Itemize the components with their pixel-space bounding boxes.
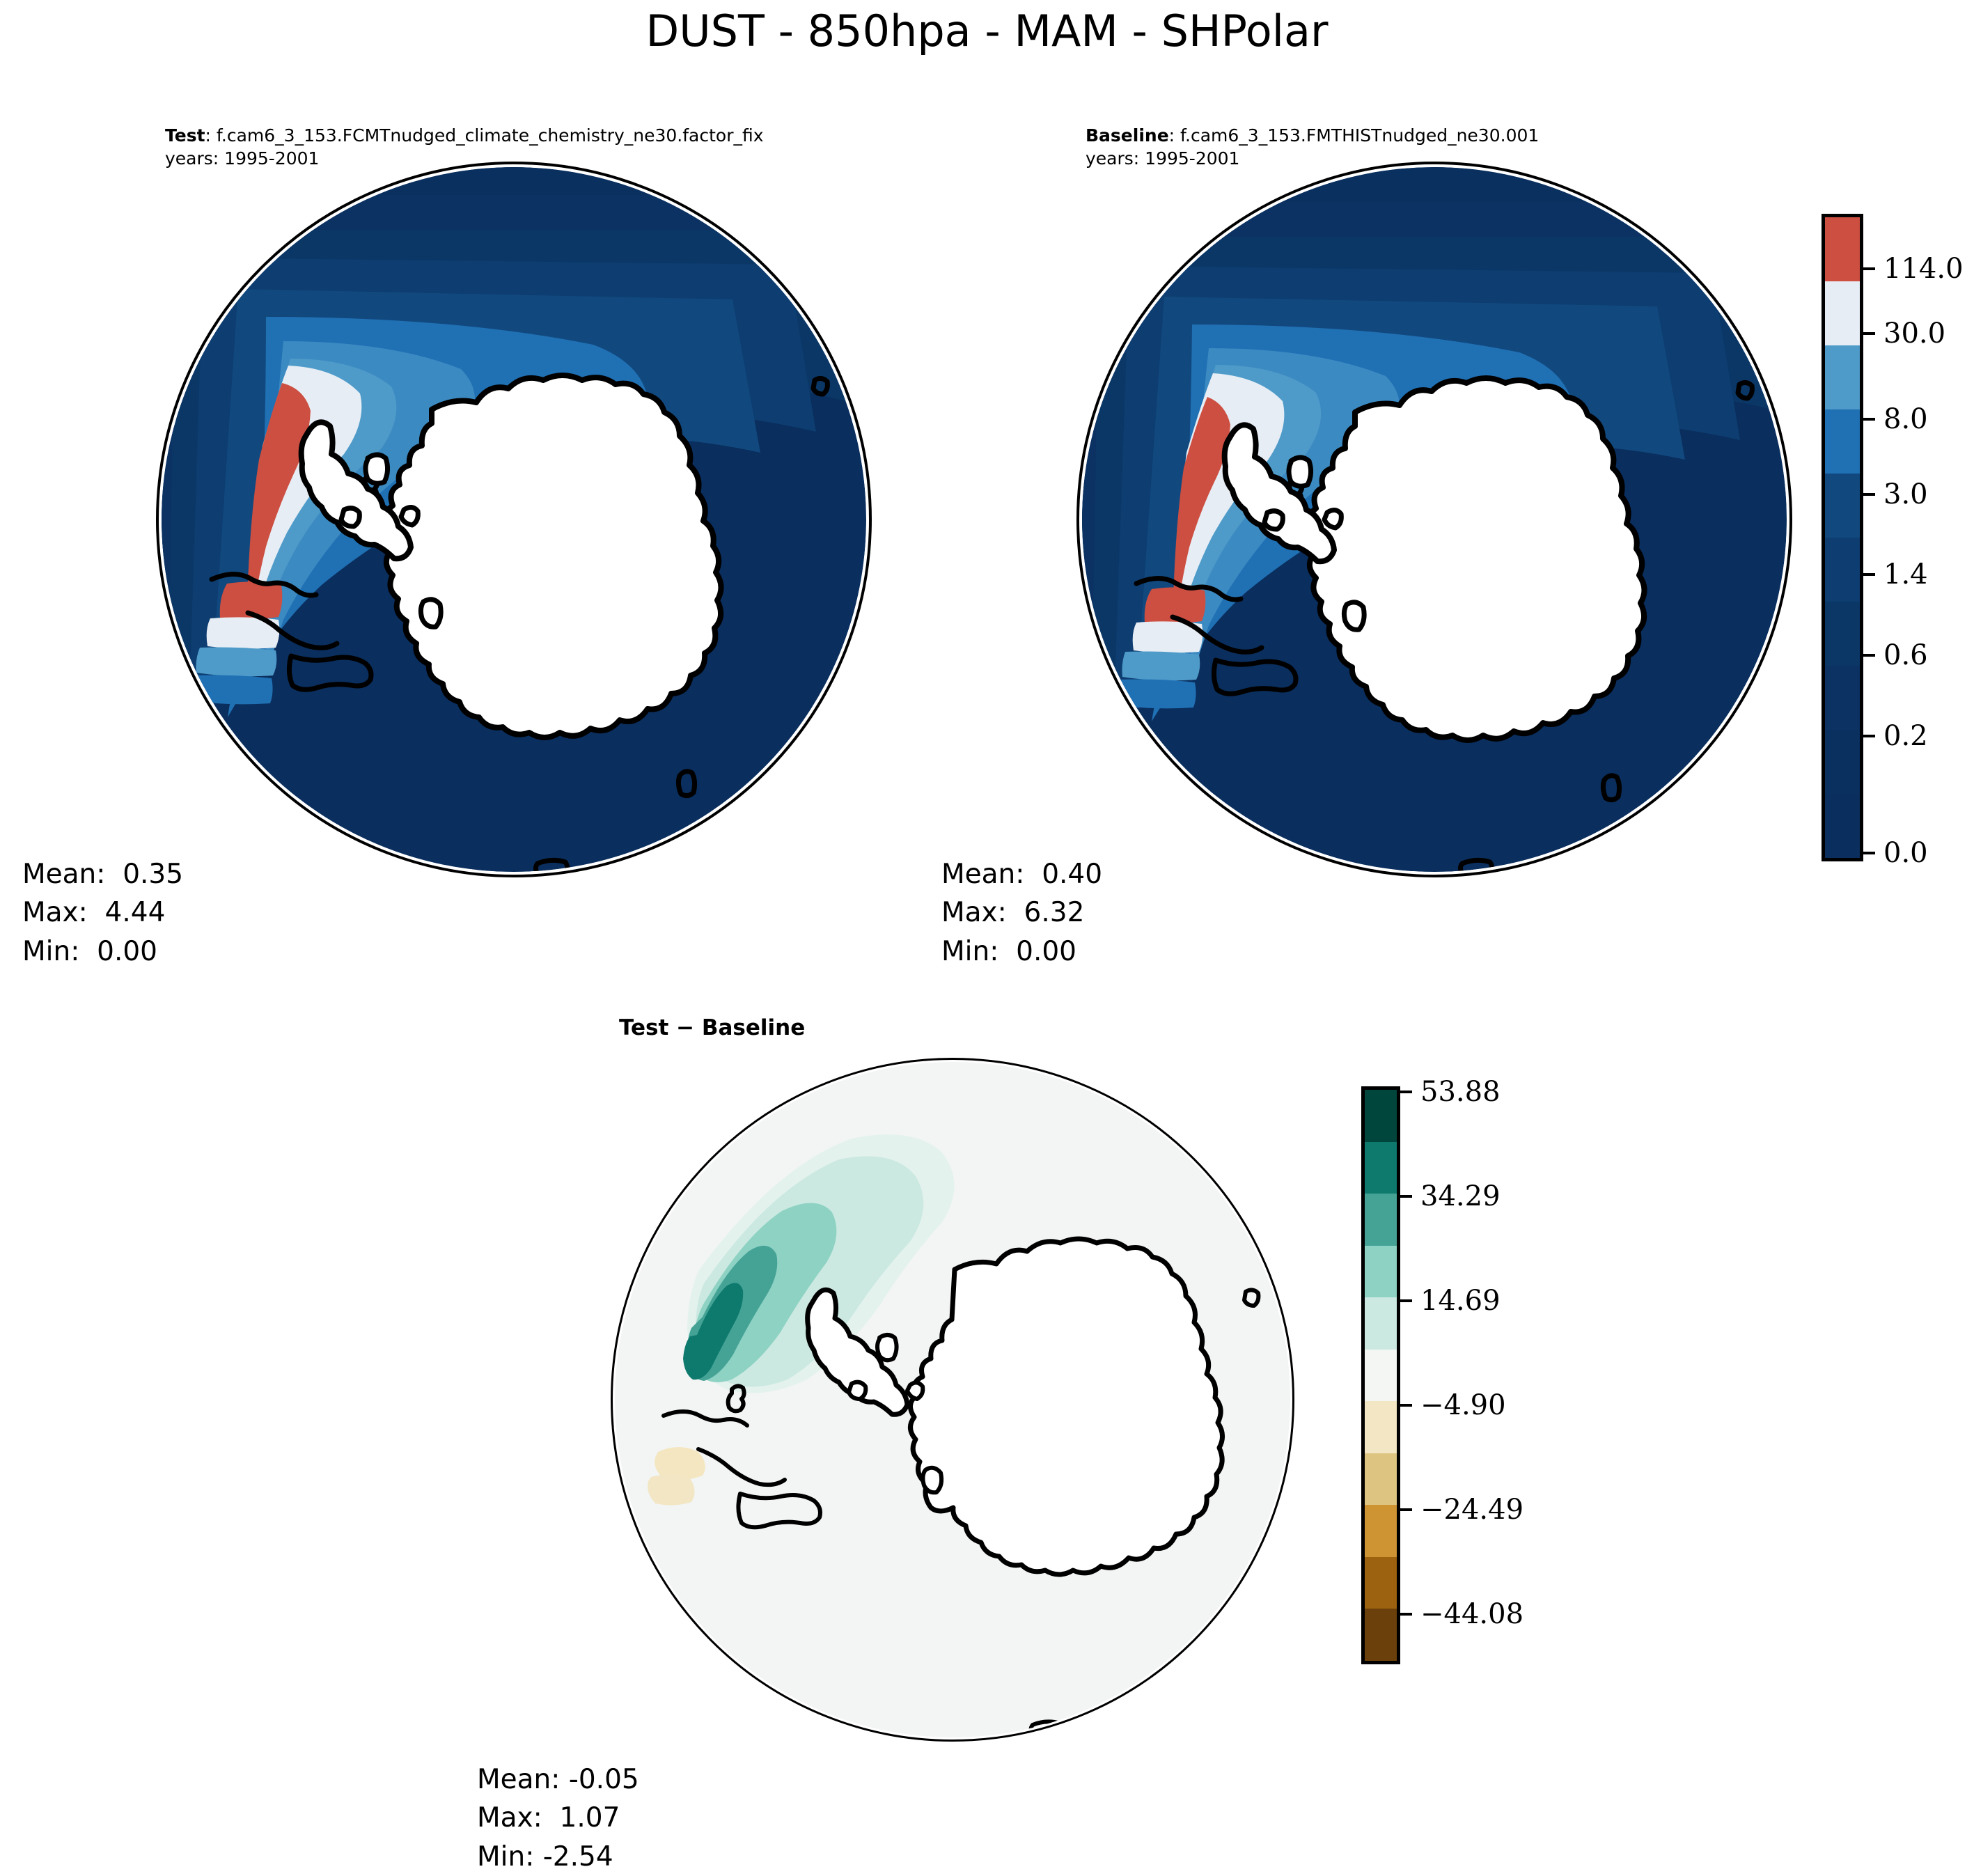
difference-colorbar-tick-2: 14.69 (1400, 1285, 1501, 1317)
tick-mark (1863, 852, 1875, 854)
test-map-panel (156, 162, 872, 879)
difference-map-disc (615, 1062, 1290, 1737)
tick-mark (1863, 735, 1875, 737)
main-colorbar-tick-3: 3.0 (1863, 478, 1928, 510)
difference-map-panel (611, 1058, 1294, 1743)
difference-colorbar-band-8 (1365, 1505, 1397, 1557)
test-separator: : (205, 125, 211, 146)
tick-mark (1400, 1508, 1412, 1511)
baseline-map-panel (1076, 162, 1792, 879)
main-colorbar-band-2 (1825, 345, 1860, 409)
test-map-disc (162, 167, 866, 872)
difference-colorbar-band-2 (1365, 1194, 1397, 1246)
difference-colorbar-band-10 (1365, 1609, 1397, 1661)
tick-mark (1863, 493, 1875, 496)
baseline-map-disc (1082, 167, 1787, 872)
test-key-label: Test (165, 125, 205, 146)
main-colorbar-tick-5: 0.6 (1863, 639, 1928, 671)
difference-colorbar[interactable] (1361, 1086, 1400, 1664)
difference-panel-title: Test − Baseline (619, 1015, 805, 1040)
main-colorbar-tick-0: 114.0 (1863, 253, 1964, 285)
main-colorbar-band-5 (1825, 538, 1860, 602)
difference-colorbar-tick-4: −24.49 (1400, 1494, 1523, 1526)
tick-mark (1400, 1613, 1412, 1616)
difference-colorbar-band-9 (1365, 1557, 1397, 1609)
difference-colorbar-tick-1: 34.29 (1400, 1180, 1501, 1212)
main-colorbar-tick-7: 0.0 (1863, 837, 1928, 869)
main-colorbar-band-3 (1825, 409, 1860, 474)
tick-mark (1400, 1195, 1412, 1198)
main-colorbar-tick-6: 0.2 (1863, 720, 1928, 752)
tick-mark (1400, 1091, 1412, 1093)
main-colorbar-band-1 (1825, 281, 1860, 345)
baseline-stats: Mean: 0.40 Max: 6.32 Min: 0.00 (941, 855, 1102, 971)
main-colorbar-band-8 (1825, 730, 1860, 794)
tick-mark (1863, 418, 1875, 421)
difference-colorbar-band-1 (1365, 1142, 1397, 1194)
difference-colorbar-tick-3: −4.90 (1400, 1389, 1506, 1421)
main-colorbar-band-9 (1825, 794, 1860, 858)
main-colorbar-band-4 (1825, 474, 1860, 538)
difference-colorbar-ticks: 53.88 34.29 14.69 −4.90 −24.49 −44.08 (1400, 1086, 1609, 1664)
difference-map-field (615, 1062, 1290, 1737)
baseline-key-label: Baseline (1086, 125, 1169, 146)
test-map-field (162, 167, 866, 872)
difference-colorbar-band-5 (1365, 1350, 1397, 1402)
main-colorbar-tick-4: 1.4 (1863, 558, 1928, 591)
difference-colorbar-band-6 (1365, 1401, 1397, 1453)
baseline-separator: : (1169, 125, 1175, 146)
tick-mark (1400, 1404, 1412, 1407)
baseline-case-name: f.cam6_3_153.FMTHISTnudged_ne30.001 (1180, 125, 1539, 146)
test-case-name: f.cam6_3_153.FCMTnudged_climate_chemistr… (217, 125, 764, 146)
tick-mark (1863, 332, 1875, 335)
tick-mark (1863, 654, 1875, 657)
baseline-map-field (1082, 167, 1787, 872)
difference-colorbar-band-0 (1365, 1090, 1397, 1142)
difference-colorbar-band-4 (1365, 1297, 1397, 1350)
main-colorbar-band-7 (1825, 666, 1860, 730)
main-colorbar-band-0 (1825, 217, 1860, 281)
tick-mark (1863, 267, 1875, 270)
main-colorbar-band-6 (1825, 602, 1860, 666)
test-stats: Mean: 0.35 Max: 4.44 Min: 0.00 (22, 855, 183, 971)
main-colorbar-ticks: 114.0 30.0 8.0 3.0 1.4 0.6 0.2 0.0 (1863, 214, 1974, 861)
difference-colorbar-tick-0: 53.88 (1400, 1076, 1501, 1108)
difference-colorbar-tick-5: −44.08 (1400, 1598, 1523, 1630)
difference-colorbar-band-3 (1365, 1246, 1397, 1298)
main-colorbar-tick-2: 8.0 (1863, 403, 1928, 435)
main-colorbar[interactable] (1822, 214, 1863, 861)
tick-mark (1863, 573, 1875, 576)
figure-title: DUST - 850hpa - MAM - SHPolar (0, 6, 1974, 56)
difference-stats: Mean: -0.05 Max: 1.07 Min: -2.54 (477, 1760, 639, 1876)
difference-colorbar-band-7 (1365, 1453, 1397, 1506)
tick-mark (1400, 1299, 1412, 1302)
main-colorbar-tick-1: 30.0 (1863, 318, 1945, 350)
